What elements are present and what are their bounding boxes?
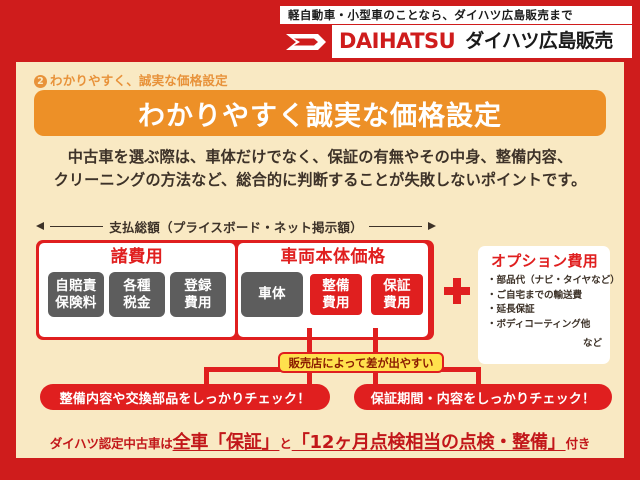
brand-name-en: DAIHATSU (339, 31, 455, 52)
vehicle-price-heading: 車両本体価格 (281, 247, 386, 267)
daihatsu-d-mark-icon (280, 25, 332, 58)
measure-label: 支払総額（プライスボード・ネット掲示額） (109, 217, 363, 236)
check-maintenance-banner: 整備内容や交換部品をしっかりチェック！ (40, 384, 330, 410)
misc-cost-heading: 諸費用 (111, 247, 164, 267)
lead-line-1: 中古車を選ぶ際は、車体だけでなく、保証の有無やその中身、整備内容、 (40, 146, 600, 169)
total-payment-measure: 支払総額（プライスボード・ネット掲示額） (36, 216, 436, 236)
arrow-left-icon (36, 222, 44, 230)
dealer-logo-block: 軽自動車・小型車のことなら、ダイハツ広島販売まで DAIHATSU ダイハツ広島… (280, 6, 632, 58)
chip-line-1: 整備 (322, 278, 350, 295)
list-item: ・ボディコーティング他 (487, 318, 602, 333)
measure-line-right (369, 226, 422, 227)
chip-line-1: 登録 (184, 278, 212, 295)
dealer-difference-callout: 販売店によって差が出やすい (278, 352, 444, 373)
misc-chip-row: 自賠責 保険料 各種 税金 登録 費用 (48, 272, 226, 317)
footer-part-5: 付き (566, 433, 591, 452)
options-footnote: など (487, 335, 602, 349)
options-list: ・部品代（ナビ・タイヤなど） ・ご自宅までの輸送費 ・延長保証 ・ボディコーティ… (487, 274, 602, 332)
cost-breakdown-frame: 諸費用 自賠責 保険料 各種 税金 登録 費用 (36, 240, 434, 340)
options-cost-box: オプション費用 ・部品代（ナビ・タイヤなど） ・ご自宅までの輸送費 ・延長保証 … (478, 246, 610, 364)
chip-car-body: 車体 (241, 272, 303, 317)
chip-warranty-fee: 保証 費用 (369, 272, 425, 317)
chip-line-1: 車体 (258, 286, 286, 303)
check-maintenance-text: 整備内容や交換部品をしっかりチェック！ (60, 388, 311, 407)
logo-text: DAIHATSU ダイハツ広島販売 (332, 25, 632, 58)
step-label-text: わかりやすく、誠実な価格設定 (50, 73, 228, 88)
footer-bar: ダイハツ認定中古車は 全車「保証」 と 「12ヶ月点検相当の点検・整備」 付き (16, 424, 624, 458)
arrow-right-icon (428, 222, 436, 230)
plus-icon (444, 278, 470, 304)
footer-part-2: 全車「保証」 (173, 428, 280, 454)
header-bar: 軽自動車・小型車のことなら、ダイハツ広島販売まで DAIHATSU ダイハツ広島… (0, 0, 640, 62)
page-title: わかりやすく誠実な価格設定 (138, 94, 502, 133)
infographic-page: 軽自動車・小型車のことなら、ダイハツ広島販売まで DAIHATSU ダイハツ広島… (0, 0, 640, 480)
chip-maintenance-fee: 整備 費用 (308, 272, 364, 317)
list-item: ・延長保証 (487, 303, 602, 318)
connector-warranty-up (373, 328, 378, 354)
chip-line-1: 保証 (383, 278, 411, 295)
callout-text: 販売店によって差が出やすい (289, 355, 434, 371)
measure-line-left (50, 226, 103, 227)
footer-part-1: ダイハツ認定中古車は (50, 433, 173, 452)
step-number-badge: 2 (34, 75, 47, 88)
options-heading: オプション費用 (487, 252, 602, 270)
list-item: ・ご自宅までの輸送費 (487, 289, 602, 304)
chip-line-2: 保険料 (55, 295, 96, 312)
chip-taxes: 各種 税金 (109, 272, 165, 317)
content-panel: 2わかりやすく、誠実な価格設定 わかりやすく誠実な価格設定 中古車を選ぶ際は、車… (16, 62, 624, 424)
chip-line-2: 税金 (123, 295, 151, 312)
chip-line-2: 費用 (383, 295, 411, 312)
check-warranty-text: 保証期間・内容をしっかりチェック！ (371, 388, 595, 407)
step-label: 2わかりやすく、誠実な価格設定 (34, 70, 228, 89)
connector-right-down (373, 371, 378, 386)
connector-maintenance-up (307, 328, 312, 354)
connector-banner-left (204, 371, 209, 386)
chip-line-1: 自賠責 (55, 278, 96, 295)
vehicle-price-box: 車両本体価格 車体 整備 費用 保証 費用 (238, 243, 428, 337)
chip-liability-insurance: 自賠責 保険料 (48, 272, 104, 317)
chip-line-2: 費用 (322, 295, 350, 312)
section-title-banner: わかりやすく誠実な価格設定 (34, 90, 606, 136)
footer-part-3: と (279, 433, 291, 452)
lead-line-2: クリーニングの方法など、総合的に判断することが失敗しないポイントです。 (40, 169, 600, 192)
header-tagline: 軽自動車・小型車のことなら、ダイハツ広島販売まで (280, 6, 632, 24)
misc-cost-box: 諸費用 自賠責 保険料 各種 税金 登録 費用 (39, 243, 235, 337)
chip-line-1: 各種 (123, 278, 151, 295)
chip-line-2: 費用 (184, 295, 212, 312)
lead-paragraph: 中古車を選ぶ際は、車体だけでなく、保証の有無やその中身、整備内容、 クリーニング… (40, 146, 600, 192)
footer-text: ダイハツ認定中古車は 全車「保証」 と 「12ヶ月点検相当の点検・整備」 付き (50, 428, 590, 454)
check-warranty-banner: 保証期間・内容をしっかりチェック！ (354, 384, 612, 410)
vehicle-chip-row: 車体 整備 費用 保証 費用 (241, 272, 425, 317)
chip-registration-fee: 登録 費用 (170, 272, 226, 317)
connector-banner-right (476, 371, 481, 386)
logo-row: DAIHATSU ダイハツ広島販売 (280, 25, 632, 58)
connector-left-down (307, 371, 312, 386)
footer-part-4: 「12ヶ月点検相当の点検・整備」 (292, 428, 566, 454)
list-item: ・部品代（ナビ・タイヤなど） (487, 274, 602, 289)
brand-name-jp: ダイハツ広島販売 (465, 32, 613, 51)
